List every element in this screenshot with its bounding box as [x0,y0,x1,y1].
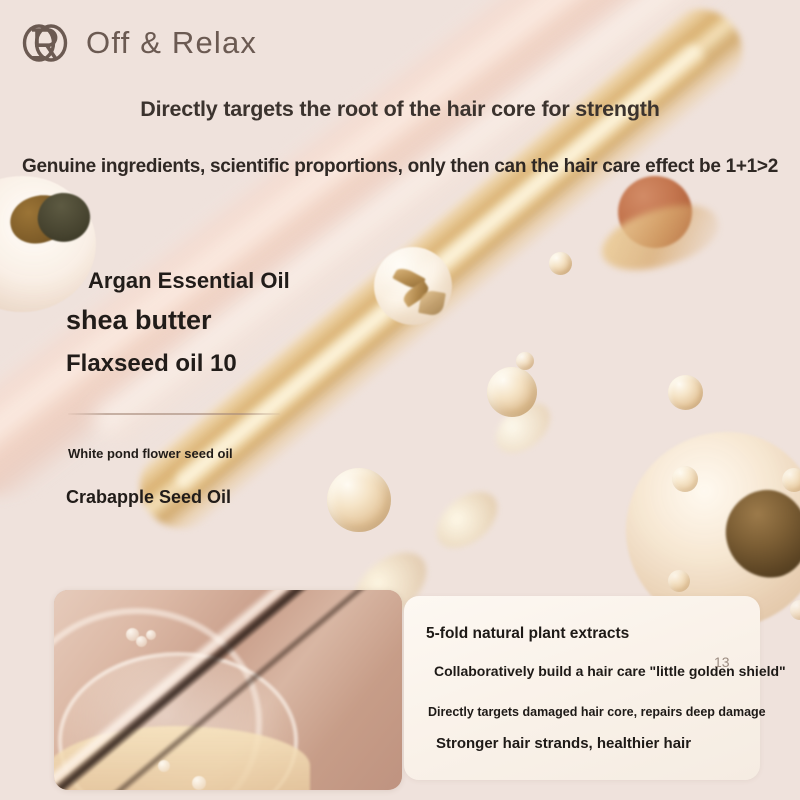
blob-bubble-1 [672,466,698,492]
benefit-detail: Directly targets damaged hair core, repa… [426,703,738,721]
photo-bubble-4 [158,760,170,772]
or-monogram-logo-icon [20,20,70,66]
blob-bubble-2 [782,468,800,492]
benefits-panel: 5-fold natural plant extracts Collaborat… [404,596,760,780]
benefit-result: Stronger hair strands, healthier hair [426,734,738,754]
page-number: 13 [714,654,730,670]
brand-header: Off & Relax [20,20,257,66]
benefit-subheading: Collaboratively build a hair care "littl… [426,661,738,681]
oil-bubble-small-2 [668,375,703,410]
oil-ripple-1 [426,481,508,560]
benefit-heading: 5-fold natural plant extracts [426,624,738,644]
oil-bubble-small-3 [516,352,534,370]
product-photo-card [54,590,402,790]
photo-bubble-2 [136,636,147,647]
page-subheadline: Genuine ingredients, scientific proporti… [0,156,800,178]
photo-bubble-5 [192,776,206,790]
ingredient-item-primary: Argan Essential Oil [0,264,400,298]
ingredient-list: Argan Essential Oil shea butter Flaxseed… [0,264,400,512]
page-headline: Directly targets the root of the hair co… [0,97,800,122]
brand-wordmark: Off & Relax [86,25,257,61]
ingredient-item-secondary: White pond flower seed oil [0,443,400,465]
ingredient-divider [68,413,280,415]
oil-bubble-large [487,367,537,417]
product-detail-page: Off & Relax Directly targets the root of… [0,0,800,800]
photo-bubble-3 [146,630,156,640]
blob-bubble-3 [668,570,690,592]
ingredient-item-secondary: Crabapple Seed Oil [0,482,400,512]
ingredient-item-primary: shea butter [0,298,400,342]
blob-bubble-4 [790,600,800,620]
ingredient-item-primary: Flaxseed oil 10 [0,342,400,386]
oil-bubble-small-1 [549,252,572,275]
